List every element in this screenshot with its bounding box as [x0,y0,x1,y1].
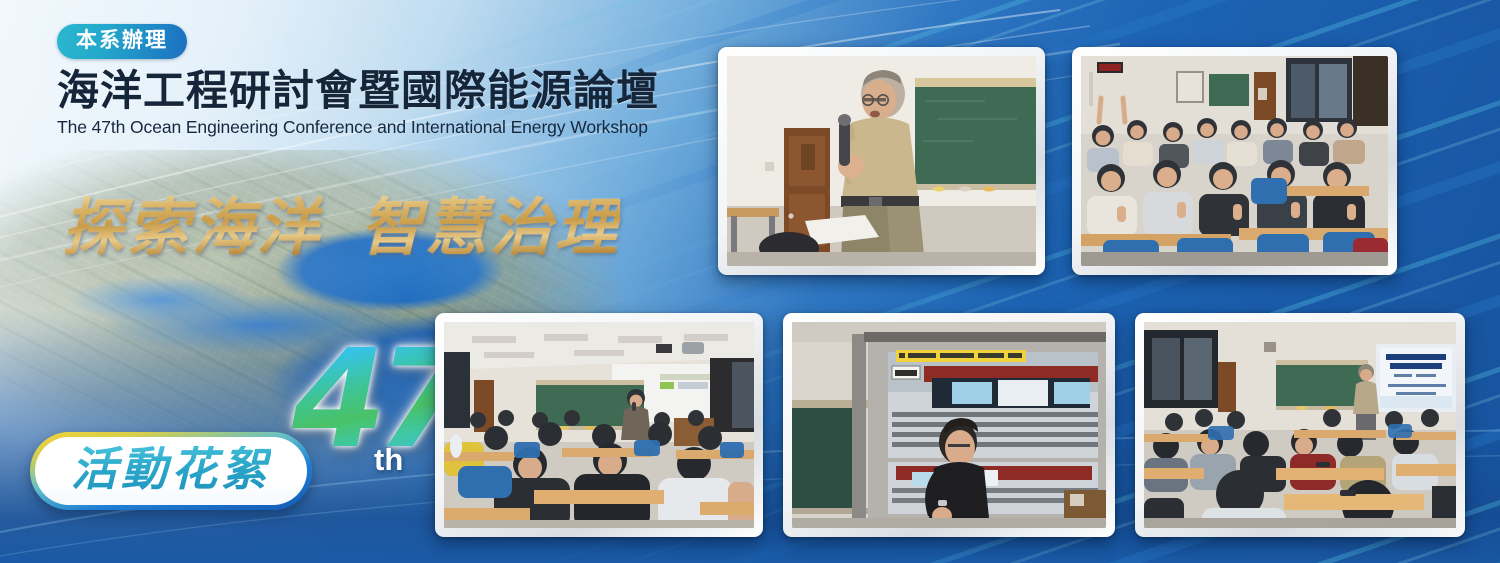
department-tag-badge: 本系辦理 [57,24,187,59]
photo-lecture-hall-rear-image [444,322,754,528]
photo-presenter-slide[interactable] [783,313,1115,537]
photo-audience-thumbs-up[interactable] [1072,47,1397,275]
slogan-part-two: 智慧治理 [360,177,620,267]
photo-lecture-hall-rear[interactable] [435,313,763,537]
slogan-part-one: 探索海洋 [62,177,322,267]
event-highlights-badge: 活動花絮 [30,432,312,510]
photo-speaker-microphone-image [727,56,1036,266]
event-highlights-label: 活動花絮 [71,446,271,492]
edition-ordinal-suffix: th [374,442,403,478]
photo-presenter-slide-image [792,322,1106,528]
photo-classroom-projection-image [1144,322,1456,528]
edition-number-logo: 47 th [292,338,452,508]
slogan-calligraphy: 探索海洋 智慧治理 [62,172,682,272]
photo-classroom-projection[interactable] [1135,313,1465,537]
event-highlights-badge-inner: 活動花絮 [35,437,307,505]
photo-speaker-microphone[interactable] [718,47,1045,275]
banner-header: 本系辦理 海洋工程研討會暨國際能源論壇 The 47th Ocean Engin… [57,24,677,138]
page-subtitle-english: The 47th Ocean Engineering Conference an… [57,117,677,138]
page-title: 海洋工程研討會暨國際能源論壇 [57,68,677,113]
event-banner: 本系辦理 海洋工程研討會暨國際能源論壇 The 47th Ocean Engin… [0,0,1500,563]
photo-audience-thumbs-up-image [1081,56,1388,266]
